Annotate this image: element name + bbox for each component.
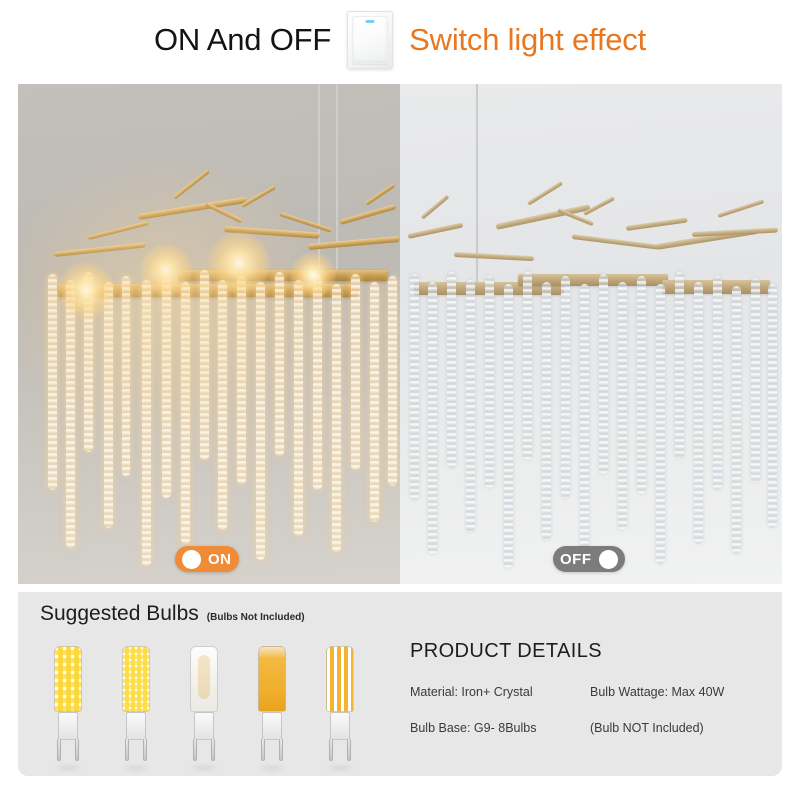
toggle-knob — [599, 550, 618, 569]
bulb-reflection — [120, 762, 152, 774]
crystal-strand — [332, 284, 341, 552]
spec-bulb-included: (Bulb NOT Included) — [590, 721, 762, 735]
hero-comparison-image: ON — [18, 84, 782, 584]
crystal-strand — [181, 282, 190, 544]
crystal-strand — [637, 276, 646, 494]
crystal-strand — [237, 276, 246, 484]
bulb-reflection — [256, 762, 288, 774]
bulb-base — [126, 712, 146, 740]
state-badge-on-label: ON — [208, 551, 232, 568]
bulb-illustration-row — [40, 634, 390, 764]
bulb-pin — [329, 739, 333, 761]
branch-twig — [572, 234, 660, 250]
g9-led-chip-bulb-warm — [40, 642, 96, 764]
warm-light-wash — [18, 84, 400, 584]
branch-twig — [527, 181, 563, 206]
crystal-strand — [618, 282, 627, 530]
bulb-capsule — [122, 646, 150, 712]
bulb-pin — [193, 739, 197, 761]
switch-led-indicator — [366, 20, 375, 23]
ceiling-cord — [476, 84, 478, 290]
suggested-bulbs-note: (Bulbs Not Included) — [207, 612, 305, 623]
crystal-strand — [104, 282, 113, 528]
crystal-strand — [694, 282, 703, 544]
crystal-strand — [370, 282, 379, 522]
branch-twig — [365, 183, 395, 205]
spec-material: Material: Iron+ Crystal — [410, 685, 584, 699]
crystal-strand — [504, 284, 513, 568]
crystal-strand — [675, 272, 684, 458]
lit-bulb-glow — [290, 252, 336, 298]
toggle-knob — [182, 550, 201, 569]
product-details-title: PRODUCT DETAILS — [410, 640, 762, 663]
spec-bulb-base: Bulb Base: G9- 8Bulbs — [410, 721, 584, 735]
branch-twig — [88, 221, 149, 240]
bulb-pin — [125, 739, 129, 761]
crystal-strand — [256, 282, 265, 560]
bulb-pin — [279, 739, 283, 761]
crystal-strand — [713, 276, 722, 490]
infographic-page: ON And OFF Switch light effect — [0, 0, 800, 800]
crystal-strand — [561, 276, 570, 498]
lit-bulb-glow — [208, 232, 270, 294]
bulb-base — [262, 712, 282, 740]
branch-twig — [173, 169, 210, 199]
crystal-strand — [66, 280, 75, 548]
bulb-base — [194, 712, 214, 740]
crystal-strand — [313, 276, 322, 490]
bulb-pin — [261, 739, 265, 761]
crystal-strand — [428, 282, 437, 554]
crystal-strand — [410, 274, 419, 500]
crystal-strand — [142, 280, 151, 566]
branch-twig — [421, 195, 450, 220]
branch-twig — [241, 185, 276, 207]
crystal-strand — [122, 276, 130, 476]
crystal-strand — [447, 272, 456, 468]
crystal-strand — [162, 274, 171, 498]
g9-led-chip-bulb-cool — [108, 642, 164, 764]
header-banner: ON And OFF Switch light effect — [0, 0, 800, 80]
ceiling-cord — [336, 84, 338, 279]
bulb-reflection — [324, 762, 356, 774]
hero-pane-off: OFF — [400, 84, 782, 584]
state-badge-off-label: OFF — [560, 551, 592, 568]
bulb-base — [58, 712, 78, 740]
bulb-capsule — [54, 646, 82, 712]
state-badge-off: OFF — [553, 546, 625, 572]
suggested-bulbs-heading: Suggested Bulbs (Bulbs Not Included) — [40, 602, 305, 626]
crystal-strand — [485, 276, 494, 488]
lit-bulb-glow — [58, 262, 114, 318]
g9-frosted-halogen-bulb — [176, 642, 232, 764]
g9-filament-bulb — [312, 642, 368, 764]
bulb-base — [330, 712, 350, 740]
suggested-bulbs-title: Suggested Bulbs — [40, 602, 199, 626]
product-spec-grid: Material: Iron+ Crystal Bulb Wattage: Ma… — [410, 685, 762, 735]
crystal-strand — [200, 270, 209, 460]
crystal-strand — [656, 284, 665, 564]
crystal-strand — [275, 272, 284, 456]
header-title-left: ON And OFF — [154, 22, 331, 58]
crystal-strand — [48, 274, 57, 490]
crystal-strand — [580, 284, 589, 560]
bulb-pin — [143, 739, 147, 761]
spec-bulb-wattage: Bulb Wattage: Max 40W — [590, 685, 762, 699]
switch-rocker — [352, 16, 388, 64]
crystal-strand — [751, 278, 760, 482]
bottom-info-panel: Suggested Bulbs (Bulbs Not Included) — [18, 592, 782, 776]
crystal-strand — [351, 274, 360, 470]
bulb-pin — [57, 739, 61, 761]
wall-light-switch-icon — [347, 11, 393, 69]
bulb-pin — [75, 739, 79, 761]
crystal-strand — [218, 280, 227, 530]
bulb-capsule — [258, 646, 286, 712]
header-title-right: Switch light effect — [409, 22, 646, 58]
state-badge-on: ON — [175, 546, 239, 572]
branch-twig — [339, 204, 396, 225]
branch-twig — [717, 199, 764, 218]
branch-twig — [626, 217, 688, 231]
bulb-reflection — [52, 762, 84, 774]
bulb-capsule — [326, 646, 354, 712]
lit-bulb-glow — [140, 244, 192, 296]
bulb-pin — [347, 739, 351, 761]
crystal-strand — [466, 280, 475, 532]
bulb-reflection — [188, 762, 220, 774]
branch-twig — [407, 222, 463, 239]
crystal-strand — [388, 276, 397, 486]
branch-twig — [454, 252, 534, 261]
crystal-strand — [768, 284, 777, 528]
crystal-strand — [599, 274, 608, 474]
bulb-pin — [211, 739, 215, 761]
crystal-strand — [294, 280, 303, 536]
crystal-strand — [542, 282, 551, 540]
branch-twig — [308, 236, 400, 250]
g9-cob-amber-bulb — [244, 642, 300, 764]
bulb-capsule — [190, 646, 218, 712]
hero-pane-on: ON — [18, 84, 400, 584]
product-details-block: PRODUCT DETAILS Material: Iron+ Crystal … — [410, 640, 762, 735]
crystal-strand — [523, 272, 532, 460]
crystal-strand — [732, 286, 741, 554]
branch-twig — [54, 242, 146, 257]
